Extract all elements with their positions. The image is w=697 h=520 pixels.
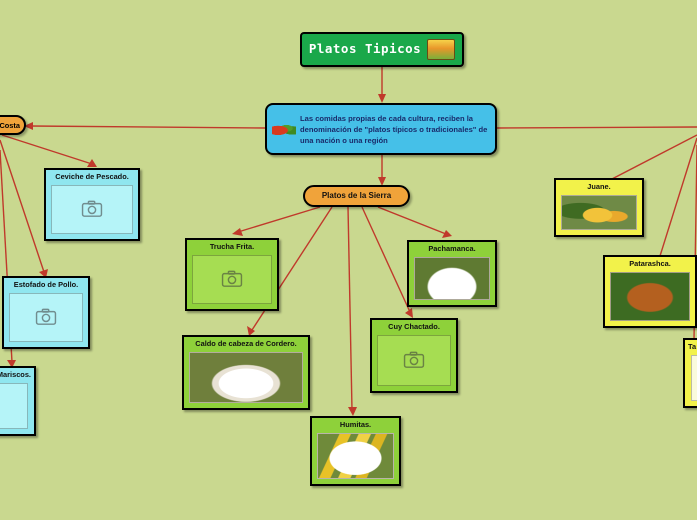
node-label-caldo: Caldo de cabeza de Cordero. [195,340,296,349]
node-image-estofado [9,293,83,342]
node-label-patarashca: Patarashca. [629,260,671,269]
node-label-estofado: Estofado de Pollo. [14,281,78,290]
node-label-trucha: Trucha Frita. [210,243,254,252]
node-image-juane [561,195,637,230]
node-tacacho[interactable]: Ta [683,338,697,408]
description-node[interactable]: Las comidas propias de cada cultura, rec… [265,103,497,155]
node-image-trucha [192,255,272,304]
juane-art [562,196,636,229]
node-humitas[interactable]: Humitas. [310,416,401,486]
node-mariscos[interactable]: Mariscos. [0,366,36,436]
pachamanca-art [415,258,489,299]
root-label: Platos Tipicos [309,42,421,56]
node-label-juane: Juane. [587,183,610,192]
node-patarashca[interactable]: Patarashca. [603,255,697,328]
food-photo-icon [427,39,455,60]
soup-bowl-art [190,353,302,402]
branch-node-costa[interactable]: Costa [0,115,26,135]
camera-placeholder-icon [403,351,425,369]
node-pachamanca[interactable]: Pachamanca. [407,240,497,307]
node-label-humitas: Humitas. [340,421,371,430]
node-label-tacacho: Ta [685,343,696,352]
node-juane[interactable]: Juane. [554,178,644,237]
branch-label-costa: Costa [0,121,20,130]
node-label-mariscos: Mariscos. [0,371,34,380]
node-image-caldo [189,352,303,403]
node-trucha[interactable]: Trucha Frita. [185,238,279,311]
node-image-ceviche [51,185,133,234]
camera-placeholder-icon [81,200,103,218]
description-label: Las comidas propias de cada cultura, rec… [296,113,495,146]
node-label-cuy: Cuy Chactado. [388,323,440,332]
camera-placeholder-icon [221,270,243,288]
node-estofado[interactable]: Estofado de Pollo. [2,276,90,349]
node-image-tacacho [691,355,697,401]
branch-label-sierra: Platos de la Sierra [322,191,391,200]
branch-node-sierra[interactable]: Platos de la Sierra [303,185,410,207]
node-caldo[interactable]: Caldo de cabeza de Cordero. [182,335,310,410]
root-node[interactable]: Platos Tipicos [300,32,464,67]
node-ceviche[interactable]: Ceviche de Pescado. [44,168,140,241]
camera-placeholder-icon [35,308,57,326]
humitas-art [318,434,393,478]
mindmap-canvas: Platos Tipicos Las comidas propias de ca… [0,0,697,520]
fish-art [611,273,689,320]
node-cuy[interactable]: Cuy Chactado. [370,318,458,393]
node-image-cuy [377,335,451,386]
chili-pepper-icon [272,122,296,136]
node-image-humitas [317,433,394,479]
node-label-pachamanca: Pachamanca. [428,245,475,254]
node-label-ceviche: Ceviche de Pescado. [55,173,129,182]
node-image-mariscos [0,383,28,429]
node-image-patarashca [610,272,690,321]
node-image-pachamanca [414,257,490,300]
